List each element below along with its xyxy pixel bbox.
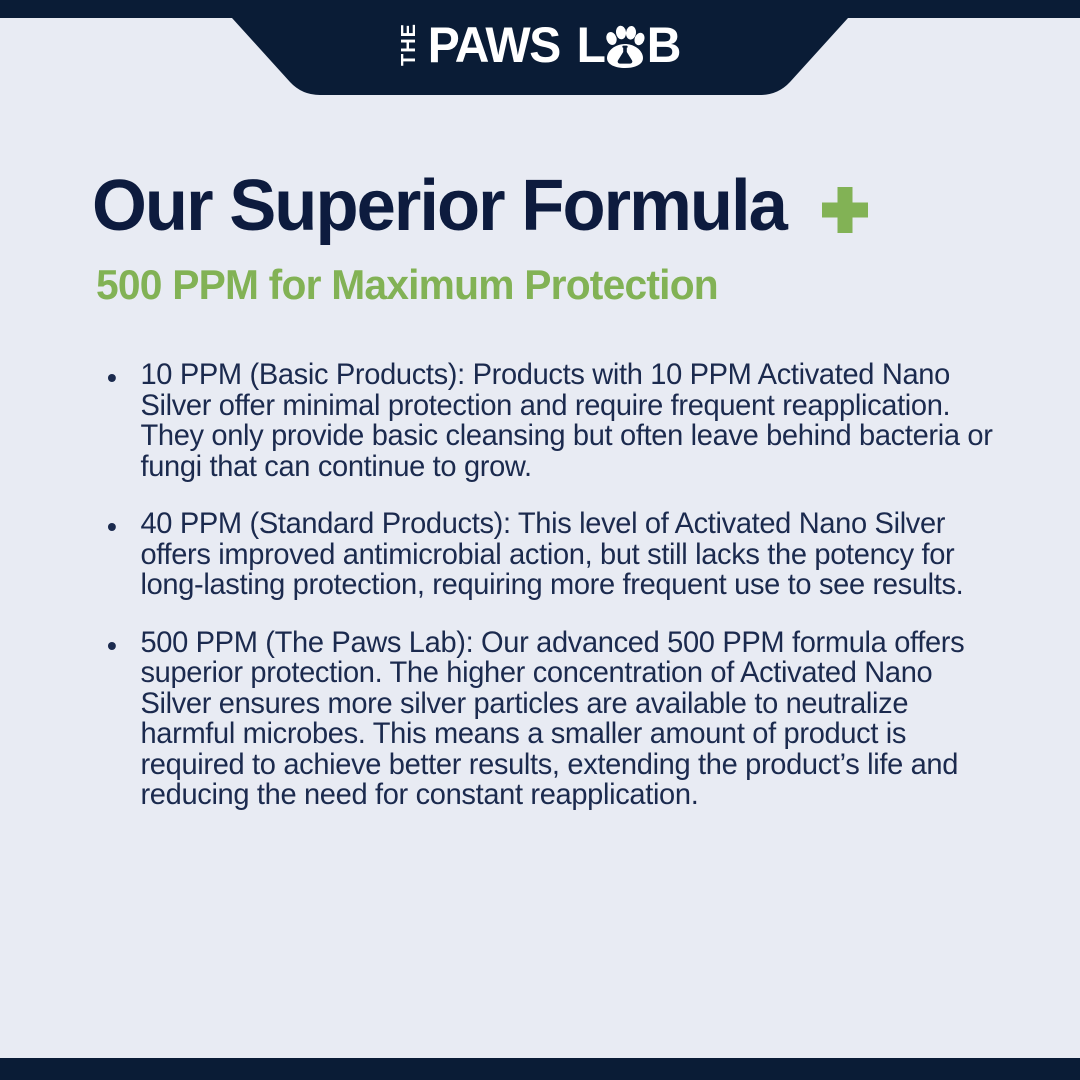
main-content: Our Superior Formula 500 PPM for Maximum… bbox=[0, 100, 1080, 1058]
benefits-list: 10 PPM (Basic Products): Products with 1… bbox=[92, 360, 1020, 811]
list-item: 500 PPM (The Paws Lab): Our advanced 500… bbox=[106, 628, 1006, 811]
header-banner: THE PAWS L B bbox=[0, 0, 1080, 100]
list-item: 40 PPM (Standard Products): This level o… bbox=[106, 509, 1006, 601]
logo-paws-text: PAWS bbox=[428, 20, 560, 70]
page-subtitle: 500 PPM for Maximum Protection bbox=[96, 264, 992, 306]
list-item: 10 PPM (Basic Products): Products with 1… bbox=[106, 360, 1006, 482]
logo-b-letter: B bbox=[647, 20, 680, 70]
medical-cross-icon bbox=[820, 186, 870, 236]
brand-logo[interactable]: THE PAWS L B bbox=[0, 0, 1080, 90]
paw-flask-icon bbox=[605, 25, 645, 69]
heading-row: Our Superior Formula bbox=[92, 170, 1020, 242]
page-title: Our Superior Formula bbox=[92, 170, 786, 242]
footer-bar bbox=[0, 1058, 1080, 1080]
logo-the-text: THE bbox=[399, 23, 419, 66]
logo-l-letter: L bbox=[577, 20, 605, 70]
